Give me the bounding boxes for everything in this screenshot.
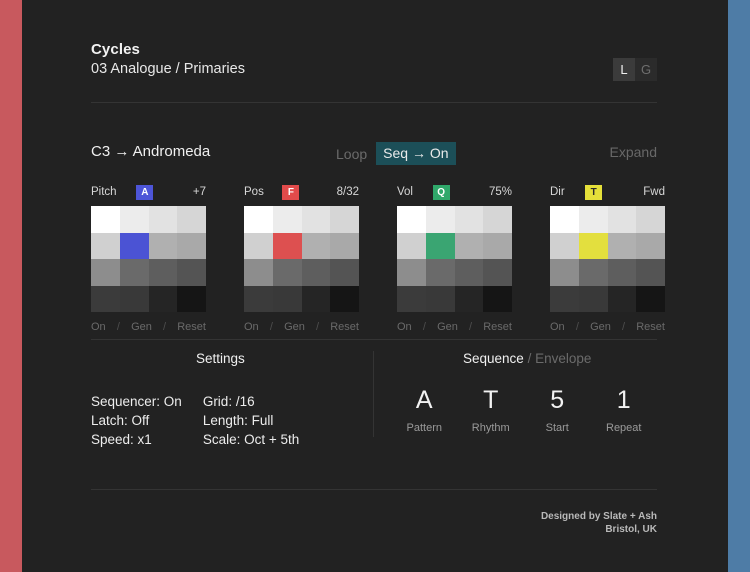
grid-cell[interactable] [426,286,455,313]
grid-cell[interactable] [426,206,455,233]
sequence-value: 5 [524,385,591,415]
action-gen[interactable]: Gen [437,321,458,333]
grid-cell[interactable] [91,206,120,233]
grid-cell[interactable] [579,259,608,286]
grid-cell[interactable] [273,206,302,233]
footer-location: Bristol, UK [541,523,657,536]
module-header: Pos F 8/32 [244,184,359,200]
grid-cell[interactable] [608,286,637,313]
sequence-value: 1 [591,385,658,415]
header: Cycles 03 Analogue / Primaries L G [91,41,657,79]
grid-cell[interactable] [397,259,426,286]
sequence-title: Sequence / Envelope [463,351,591,366]
setting-scale[interactable]: Scale: Oct + 5th [203,430,299,449]
grid-cell[interactable] [177,206,206,233]
grid-cell[interactable] [330,206,359,233]
sequence-caption: Repeat [591,422,658,434]
divider-bottom [91,489,657,490]
grid-cell[interactable] [91,259,120,286]
grid-cell[interactable] [455,286,484,313]
main-panel: Cycles 03 Analogue / Primaries L G C3 → … [22,0,728,572]
action-on[interactable]: On [244,321,259,333]
module-label: Pitch [91,186,117,198]
grid-cell[interactable] [177,286,206,313]
grid-cell[interactable] [483,233,512,260]
grid-cell[interactable] [550,206,579,233]
setting-grid[interactable]: Grid: /16 [203,392,299,411]
grid-cell[interactable] [483,259,512,286]
module-value: Fwd [643,186,665,198]
page-title: Cycles [91,41,657,59]
grid-cell[interactable] [426,259,455,286]
sequence-value: T [458,385,525,415]
page-subtitle: 03 Analogue / Primaries [91,60,657,79]
mode-group: Loop Seq → On [336,142,456,165]
module-header: Pitch A +7 [91,184,206,200]
grid-cell[interactable] [579,286,608,313]
module-grid[interactable] [397,206,512,312]
grid-cell[interactable] [636,286,665,313]
module-pos: Pos F 8/32 On / Gen / Reset [244,184,359,333]
lower-section: Settings Sequence / Envelope Sequencer: … [91,351,657,451]
action-on[interactable]: On [91,321,106,333]
grid-cell[interactable] [149,259,178,286]
grid-cell[interactable] [177,259,206,286]
mode-loop-button[interactable]: Loop [336,146,367,162]
expand-button[interactable]: Expand [610,144,657,160]
module-grid[interactable] [244,206,359,312]
grid-cell[interactable] [273,286,302,313]
module-actions: On / Gen / Reset [91,321,206,333]
sequence-item-rhythm[interactable]: T Rhythm [458,385,525,434]
grid-cell[interactable] [120,206,149,233]
grid-cell[interactable] [149,233,178,260]
sequence-item-repeat[interactable]: 1 Repeat [591,385,658,434]
sequence-title-active[interactable]: Sequence [463,351,524,366]
grid-cell[interactable] [244,233,273,260]
vertical-divider [373,351,374,437]
grid-cell[interactable] [579,233,608,260]
action-reset[interactable]: Reset [483,321,512,333]
action-reset[interactable]: Reset [177,321,206,333]
module-grid[interactable] [91,206,206,312]
action-on[interactable]: On [550,321,565,333]
module-value: +7 [193,186,206,198]
module-badge[interactable]: Q [433,185,450,200]
lg-toggle-group: L G [613,58,657,81]
module-label: Vol [397,186,413,198]
toggle-l[interactable]: L [613,58,635,81]
grid-cell[interactable] [608,206,637,233]
grid-cell[interactable] [550,233,579,260]
grid-cell[interactable] [455,206,484,233]
grid-cell[interactable] [397,206,426,233]
divider-top [91,102,657,103]
grid-cell[interactable] [483,286,512,313]
divider-middle [91,339,657,340]
grid-cell[interactable] [608,233,637,260]
module-badge[interactable]: F [282,185,299,200]
module-header: Dir T Fwd [550,184,665,200]
setting-length[interactable]: Length: Full [203,411,299,430]
grid-cell[interactable] [302,286,331,313]
grid-cell[interactable] [91,233,120,260]
mode-seq-button[interactable]: Seq → On [376,142,455,165]
grid-cell[interactable] [302,233,331,260]
grid-cell[interactable] [244,286,273,313]
action-gen[interactable]: Gen [590,321,611,333]
action-on[interactable]: On [397,321,412,333]
grid-cell[interactable] [330,286,359,313]
module-actions: On / Gen / Reset [550,321,665,333]
grid-cell[interactable] [636,259,665,286]
grid-cell[interactable] [177,233,206,260]
sequence-caption: Start [524,422,591,434]
grid-cell[interactable] [397,233,426,260]
footer-designer: Designed by Slate + Ash [541,510,657,523]
grid-cell[interactable] [120,286,149,313]
settings-column-right: Grid: /16 Length: Full Scale: Oct + 5th [203,392,299,449]
sequence-caption: Pattern [391,422,458,434]
grid-cell[interactable] [302,206,331,233]
module-actions: On / Gen / Reset [397,321,512,333]
grid-cell[interactable] [397,286,426,313]
module-pitch: Pitch A +7 On / Gen / Reset [91,184,206,333]
action-separator: / [469,321,472,333]
action-reset[interactable]: Reset [330,321,359,333]
right-edge-stripe [728,0,750,572]
grid-cell[interactable] [244,206,273,233]
module-label: Dir [550,186,565,198]
module-actions: On / Gen / Reset [244,321,359,333]
patch-name: C3 → Andromeda [91,143,210,160]
grid-cell[interactable] [273,233,302,260]
setting-speed[interactable]: Speed: x1 [91,430,182,449]
action-separator: / [270,321,273,333]
grid-cell[interactable] [91,286,120,313]
action-separator: / [117,321,120,333]
module-header: Vol Q 75% [397,184,512,200]
grid-cell[interactable] [608,259,637,286]
module-label: Pos [244,186,264,198]
action-separator: / [316,321,319,333]
action-gen[interactable]: Gen [131,321,152,333]
app-window: Cycles 03 Analogue / Primaries L G C3 → … [0,0,750,572]
settings-body: Sequencer: On Latch: Off Speed: x1 Grid:… [91,392,299,449]
sequence-title-envelope[interactable]: / Envelope [524,351,592,366]
grid-cell[interactable] [302,259,331,286]
grid-cell[interactable] [455,233,484,260]
grid-cell[interactable] [149,286,178,313]
grid-cell[interactable] [550,286,579,313]
left-edge-stripe [0,0,22,572]
grid-cell[interactable] [330,259,359,286]
action-separator: / [423,321,426,333]
toggle-g[interactable]: G [635,58,657,81]
grid-cell[interactable] [120,259,149,286]
settings-title: Settings [196,351,245,366]
module-badge[interactable]: A [136,185,153,200]
module-value: 8/32 [337,186,359,198]
footer: Designed by Slate + Ash Bristol, UK [541,510,657,536]
grid-cell[interactable] [579,206,608,233]
sequence-body: A Pattern T Rhythm 5 Start 1 Repeat [391,385,657,434]
action-gen[interactable]: Gen [284,321,305,333]
grid-cell[interactable] [273,259,302,286]
module-value: 75% [489,186,512,198]
grid-cell[interactable] [483,206,512,233]
grid-cell[interactable] [636,233,665,260]
grid-cell[interactable] [550,259,579,286]
sequence-item-start[interactable]: 5 Start [524,385,591,434]
action-separator: / [622,321,625,333]
transport-row: C3 → Andromeda Loop Seq → On Expand [91,142,657,166]
module-vol: Vol Q 75% On / Gen / Reset [397,184,512,333]
action-separator: / [576,321,579,333]
grid-cell[interactable] [120,233,149,260]
module-row: Pitch A +7 On / Gen / Reset Po [91,184,657,333]
sequence-item-pattern[interactable]: A Pattern [391,385,458,434]
grid-cell[interactable] [330,233,359,260]
action-reset[interactable]: Reset [636,321,665,333]
grid-cell[interactable] [149,206,178,233]
setting-latch[interactable]: Latch: Off [91,411,182,430]
grid-cell[interactable] [426,233,455,260]
sequence-caption: Rhythm [458,422,525,434]
content-area: Cycles 03 Analogue / Primaries L G C3 → … [91,0,657,572]
action-separator: / [163,321,166,333]
grid-cell[interactable] [636,206,665,233]
sequence-value: A [391,385,458,415]
grid-cell[interactable] [455,259,484,286]
module-dir: Dir T Fwd On / Gen / Reset [550,184,665,333]
setting-sequencer[interactable]: Sequencer: On [91,392,182,411]
grid-cell[interactable] [244,259,273,286]
module-grid[interactable] [550,206,665,312]
settings-column-left: Sequencer: On Latch: Off Speed: x1 [91,392,182,449]
module-badge[interactable]: T [585,185,602,200]
